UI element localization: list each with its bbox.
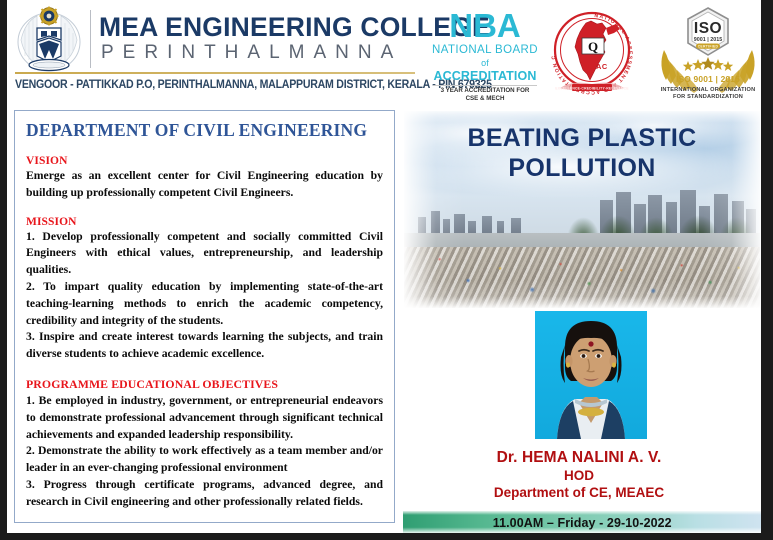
banner-plastic-waste: [404, 247, 760, 308]
svg-text:INTERNATIONAL ORGANIZATION: INTERNATIONAL ORGANIZATION: [661, 87, 756, 93]
vision-text: Emerge as an excellent center for Civil …: [26, 168, 383, 202]
nba-note: 3 YEAR ACCREDITATION FOR CSE & MECH: [433, 85, 537, 102]
banner-image: BEATING PLASTIC POLLUTION: [404, 111, 760, 308]
college-subtitle: PERINTHALMANNA: [101, 42, 402, 64]
mission-list: 1. Develop professionally competent and …: [26, 229, 383, 363]
peo-item: 3. Progress through certificate programs…: [26, 477, 383, 511]
speaker-name: Dr. HEMA NALINI A. V.: [397, 449, 761, 467]
event-poster: MEA ENGINEERING COLLEGE PERINTHALMANNA V…: [0, 0, 773, 540]
poster-header: MEA ENGINEERING COLLEGE PERINTHALMANNA V…: [7, 0, 761, 103]
nba-line-2-text: ACCREDITATION: [434, 69, 537, 83]
svg-text:EXCELLENCE·CREDIBILITY·RELEVAN: EXCELLENCE·CREDIBILITY·RELEVANCE: [555, 87, 629, 91]
nba-line-1: NATIONAL BOARD: [431, 44, 539, 56]
peo-list: 1. Be employed in industry, government, …: [26, 393, 383, 511]
peo-heading: PROGRAMME EDUCATIONAL OBJECTIVES: [26, 377, 385, 392]
peo-item: 2. Demonstrate the ability to work effec…: [26, 443, 383, 477]
naac-seal-icon: NATIONAL ASSESSMENT AND ACCREDITATION CO…: [542, 4, 642, 100]
speaker-portrait-photo: [535, 311, 647, 439]
nba-accreditation-logo-icon: NBA NATIONAL BOARD of ACCREDITATION 3 YE…: [431, 8, 539, 100]
mission-item: 2. To impart quality education by implem…: [26, 279, 383, 329]
svg-text:NAAC: NAAC: [584, 62, 608, 71]
svg-text:Q: Q: [588, 39, 598, 54]
nba-note-line-1: 3 YEAR ACCREDITATION FOR: [433, 87, 537, 95]
mission-item: 3. Inspire and create interest towards l…: [26, 329, 383, 363]
svg-text:FOR STANDARDIZATION: FOR STANDARDIZATION: [673, 94, 743, 100]
speaker-role: HOD: [397, 468, 761, 483]
college-identity-block: MEA ENGINEERING COLLEGE PERINTHALMANNA V…: [7, 0, 420, 103]
college-address: VENGOOR - PATTIKKAD P.O, PERINTHALMANNA,…: [15, 78, 492, 91]
mea-college-crest-icon: [15, 6, 83, 74]
nba-line-2: of ACCREDITATION: [431, 56, 539, 83]
svg-text:9001 | 2015: 9001 | 2015: [694, 37, 723, 43]
header-divider: [90, 10, 91, 68]
banner-title-line-1: BEATING PLASTIC: [404, 123, 760, 153]
page-title: DEPARTMENT OF CIVIL ENGINEERING: [26, 120, 385, 141]
nba-note-line-2: CSE & MECH: [433, 95, 537, 103]
svg-text:CERTIFIED: CERTIFIED: [698, 45, 719, 49]
department-info-panel: DEPARTMENT OF CIVIL ENGINEERING VISION E…: [14, 110, 395, 523]
banner-title: BEATING PLASTIC POLLUTION: [404, 123, 760, 183]
svg-text:ISO 9001 | 2015: ISO 9001 | 2015: [676, 74, 740, 84]
mission-heading: MISSION: [26, 216, 385, 228]
schedule-bar: 11.00AM – Friday - 29-10-2022: [403, 511, 761, 533]
event-content-panel: BEATING PLASTIC POLLUTION: [397, 108, 761, 526]
banner-title-line-2: POLLUTION: [404, 153, 760, 183]
vision-heading: VISION: [26, 155, 385, 167]
nba-mark: NBA: [431, 8, 539, 44]
svg-text:ISO: ISO: [694, 20, 722, 37]
portrait-figure: [535, 311, 647, 439]
mission-item: 1. Develop professionally competent and …: [26, 229, 383, 279]
peo-item: 1. Be employed in industry, government, …: [26, 393, 383, 443]
header-gold-rule: [15, 72, 415, 74]
schedule-text: 11.00AM – Friday - 29-10-2022: [492, 515, 671, 530]
speaker-department: Department of CE, MEAEC: [397, 485, 761, 500]
nba-line-2-prefix: of: [481, 58, 489, 68]
iso-certification-logo-icon: ISO 9001 | 2015 CERTIFIED ISO 9001 | 201…: [652, 2, 764, 102]
